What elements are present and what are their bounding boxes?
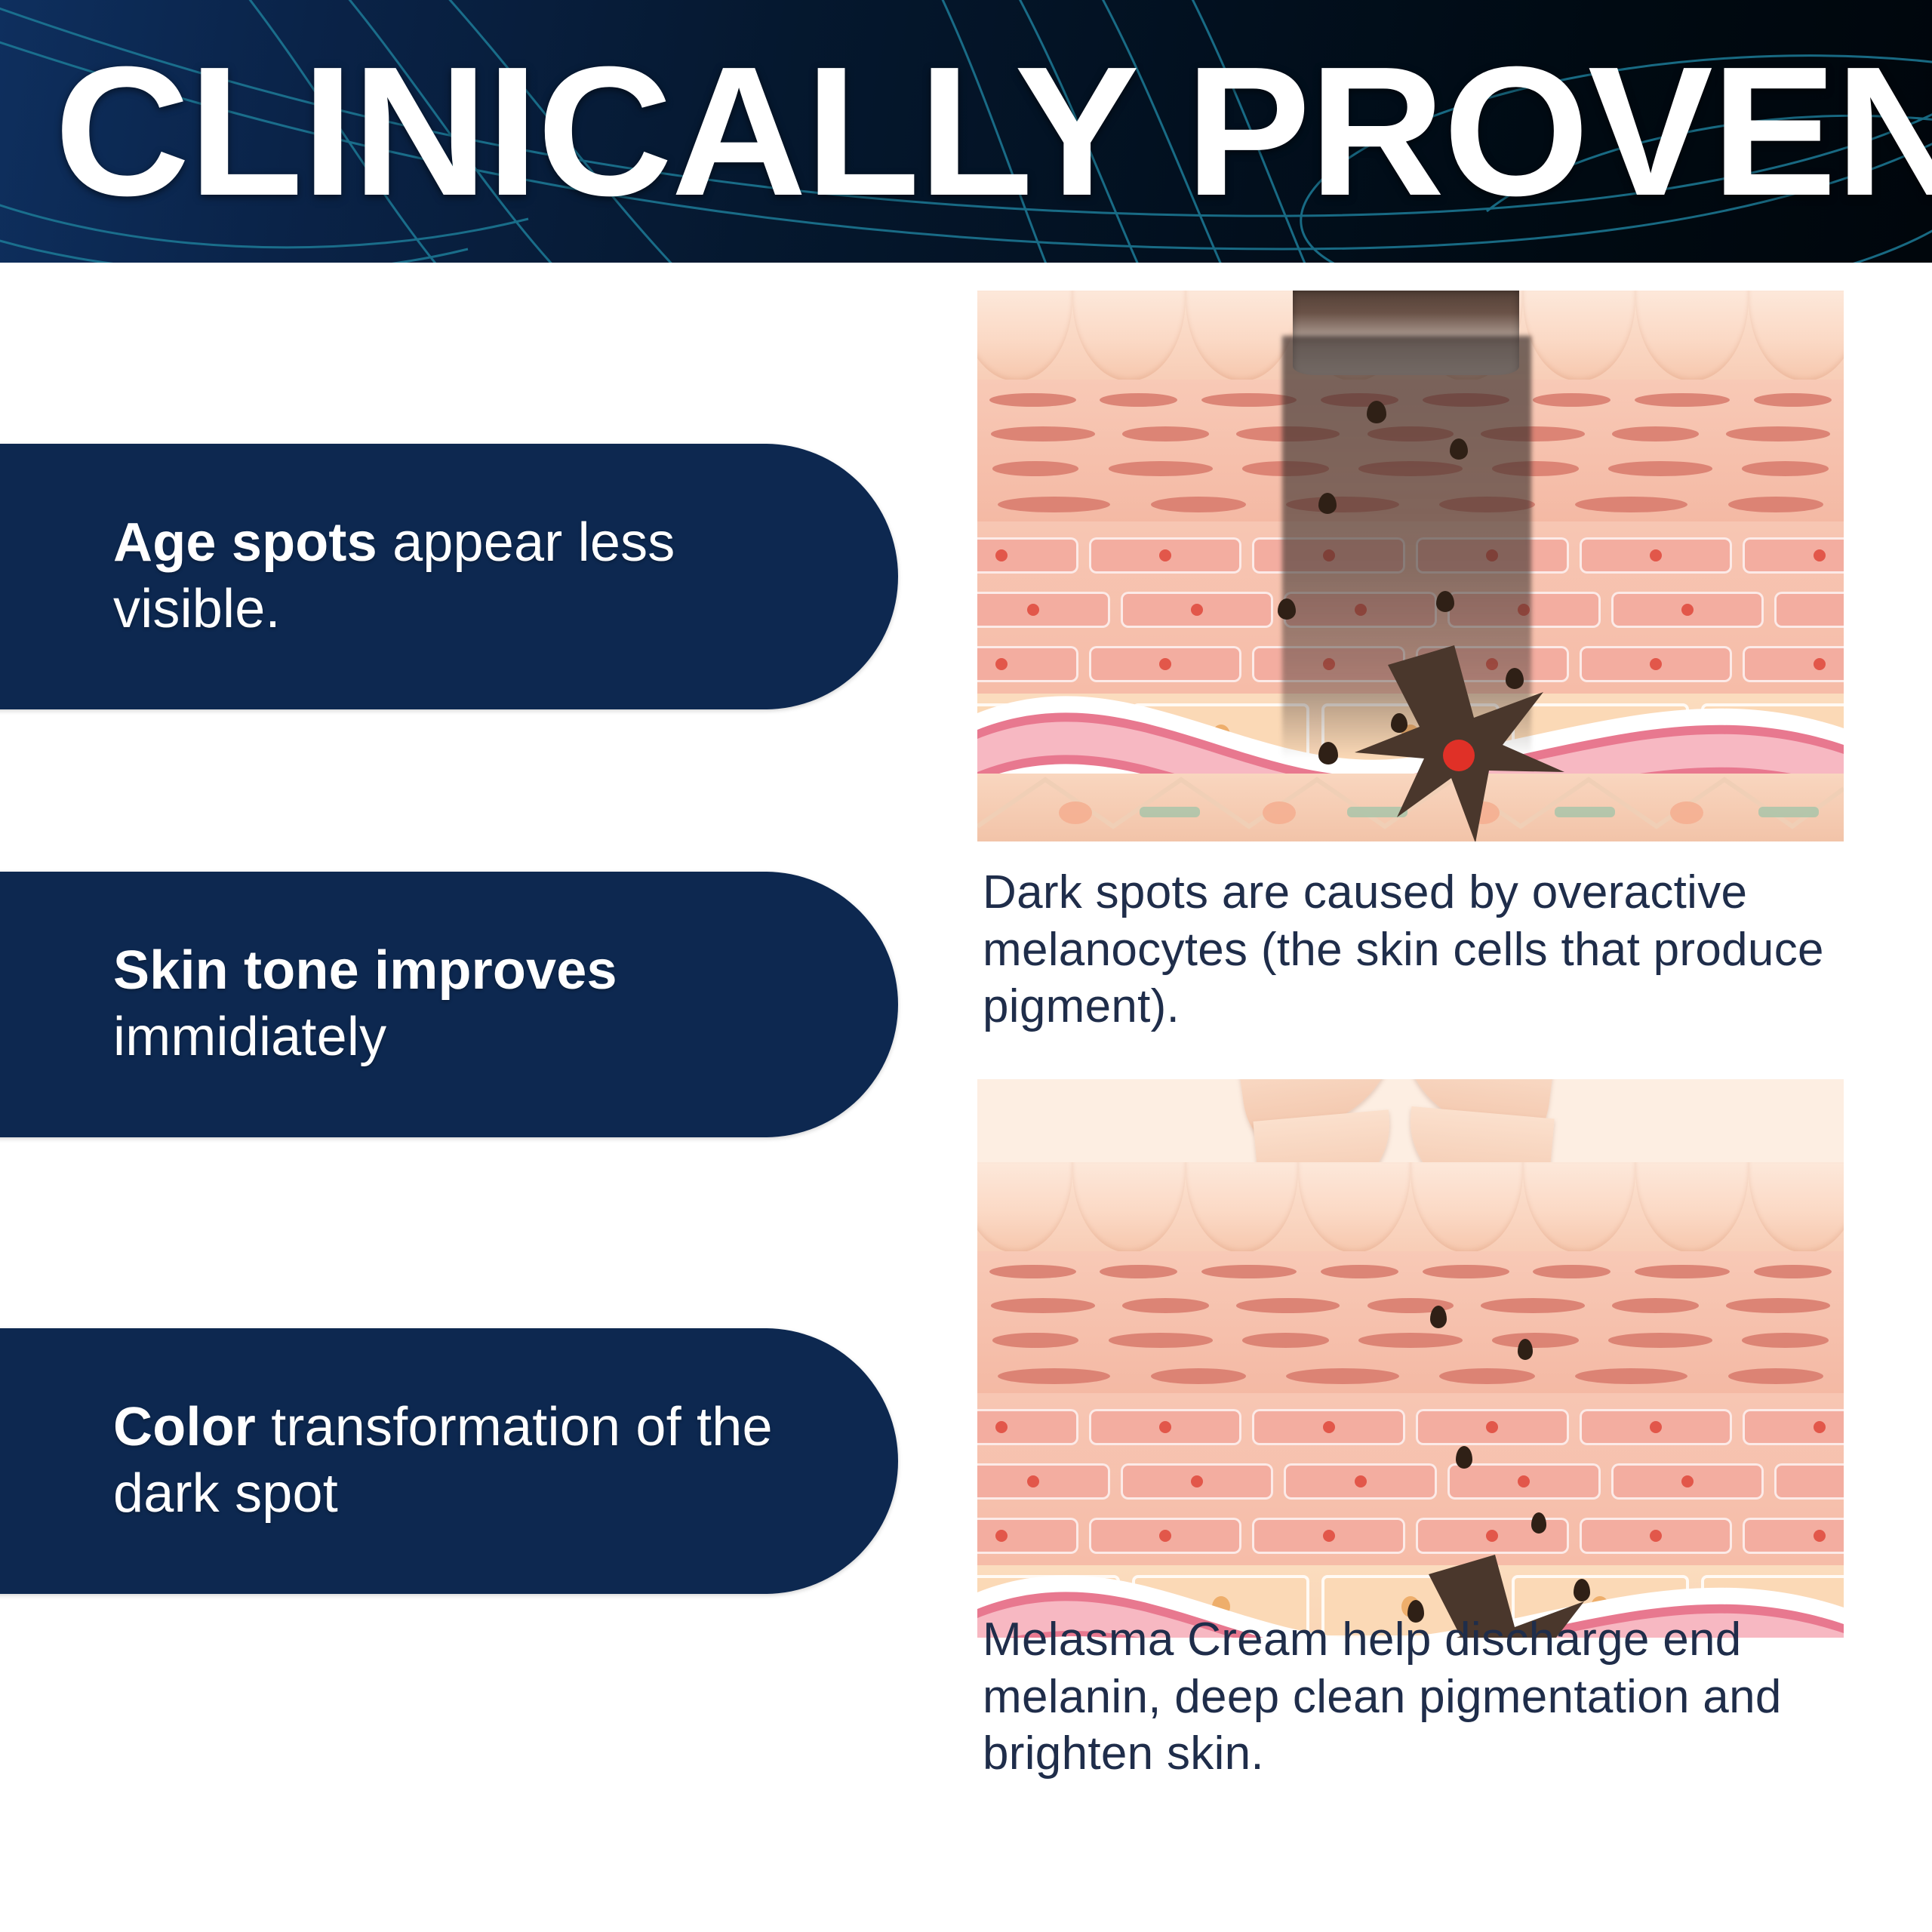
melanin-granule <box>1430 1306 1447 1328</box>
benefit-pill-text: Skin tone improves immidiately <box>113 938 815 1071</box>
melanin-granule <box>1278 598 1296 620</box>
melanin-granule <box>1318 493 1337 514</box>
stratum-granulosum-layer <box>977 1251 1844 1395</box>
benefit-pill-text: Color transformation of the dark spot <box>113 1395 815 1527</box>
panel-caption-melasma-cream: Melasma Cream help discharge end melanin… <box>983 1611 1930 1783</box>
panel-caption-dark-spots: Dark spots are caused by overactive mela… <box>983 864 1930 1035</box>
melanin-granule <box>1318 742 1338 764</box>
melanocyte-cell <box>1341 645 1590 841</box>
benefit-pill-skin-tone[interactable]: Skin tone improves immidiately <box>0 872 898 1137</box>
benefit-pill-color[interactable]: Color transformation of the dark spot <box>0 1328 898 1594</box>
skin-diagram-dark-spot <box>977 291 1844 841</box>
benefit-pill-rest: immidiately <box>113 1007 386 1067</box>
header-banner: CLINICALLY PROVEN <box>0 0 1932 263</box>
melanin-granule <box>1436 591 1454 612</box>
melanin-granule <box>1518 1339 1533 1360</box>
benefit-pill-bold: Age spots <box>113 512 377 573</box>
benefit-pill-bold: Color <box>113 1397 256 1457</box>
melanin-granule <box>1531 1512 1546 1534</box>
stratum-corneum-layer <box>977 1162 1844 1253</box>
melanin-granule <box>1456 1446 1472 1469</box>
melanin-granule <box>1367 401 1386 423</box>
melanin-granule <box>1450 438 1468 460</box>
benefit-pill-age-spots[interactable]: Age spots appear less visible. <box>0 444 898 709</box>
benefit-pill-bold: Skin tone improves <box>113 940 617 1001</box>
page-title: CLINICALLY PROVEN <box>54 39 1932 223</box>
skin-diagram-clear <box>977 1079 1844 1638</box>
benefit-pill-text: Age spots appear less visible. <box>113 510 815 643</box>
